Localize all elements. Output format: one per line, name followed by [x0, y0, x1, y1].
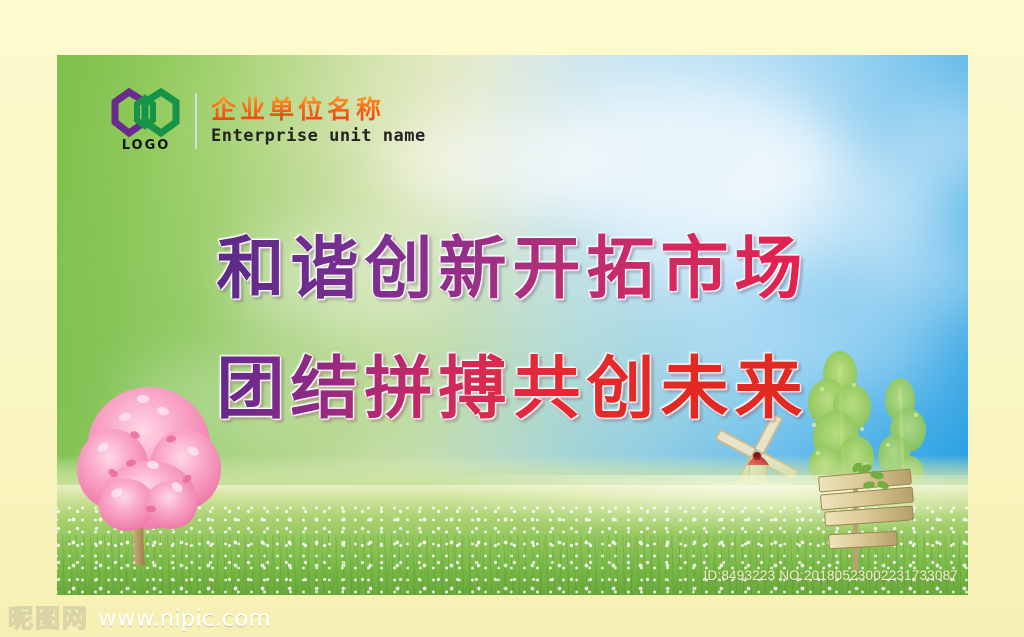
site-name-cn: 昵图网 [8, 606, 89, 631]
company-name-en: Enterprise unit name [211, 126, 426, 146]
slogan-line-1: 和谐创新开拓市场 [216, 213, 808, 312]
logo-wordmark: LOGO [122, 138, 171, 153]
company-name-cn: 企业单位名称 [211, 96, 426, 123]
page-canvas: LOGO 企业单位名称 Enterprise unit name 和谐创新开拓市… [0, 0, 1024, 637]
wooden-signpost [813, 463, 948, 573]
image-id-watermark: ID:8493223 NO:20180523002231733087 [703, 568, 958, 583]
brand-header: LOGO 企业单位名称 Enterprise unit name [103, 88, 426, 153]
slogan-line-2: 团结拼搏共创未来 [216, 333, 808, 432]
company-titles: 企业单位名称 Enterprise unit name [211, 96, 426, 146]
hexagon-logo-icon [107, 88, 185, 140]
site-url: www.nipic.com [98, 608, 271, 631]
logo-block[interactable]: LOGO [103, 88, 189, 153]
poster-artwork: LOGO 企业单位名称 Enterprise unit name 和谐创新开拓市… [57, 55, 968, 595]
header-divider [195, 93, 197, 149]
slogan-line-2-wrap: 团结拼搏共创未来 [57, 333, 968, 432]
site-watermark: 昵图网 www.nipic.com [8, 606, 271, 631]
slogan-line-1-wrap: 和谐创新开拓市场 [57, 213, 968, 312]
